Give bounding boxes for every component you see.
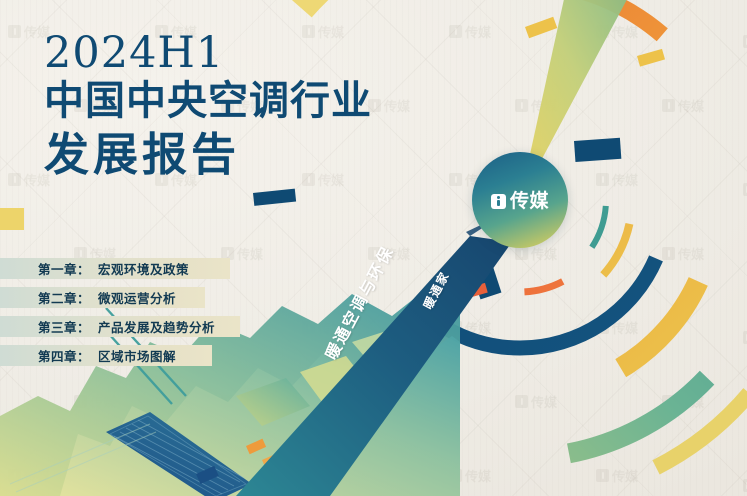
chapter-item-2[interactable]: 第二章：微观运营分析 [0,287,260,308]
chapter-title: 区域市场图解 [98,346,176,365]
chapter-title: 宏观环境及政策 [98,259,189,278]
chapter-title: 产品发展及趋势分析 [98,317,215,336]
brand-logo-badge[interactable]: 传媒 [472,152,568,248]
chapter-item-3[interactable]: 第三章：产品发展及趋势分析 [0,316,260,337]
chapter-item-1[interactable]: 第一章：宏观环境及政策 [0,258,260,279]
chapter-number: 第三章： [38,317,90,336]
info-badge-icon [491,194,506,209]
chapter-title: 微观运营分析 [98,288,176,307]
poster-title-block: 2024H1 中国中央空调行业 发展报告 [44,32,372,181]
title-year: 2024H1 [44,32,372,76]
chapter-item-4[interactable]: 第四章：区域市场图解 [0,345,260,366]
brand-logo-text: 传媒 [510,192,549,211]
poster-canvas: 传媒传媒传媒传媒传媒传媒传媒传媒传媒传媒传媒传媒传媒传媒传媒传媒传媒传媒传媒传媒… [0,0,747,496]
chapter-list: 第一章：宏观环境及政策第二章：微观运营分析第三章：产品发展及趋势分析第四章：区域… [0,258,260,374]
title-line-2: 发展报告 [44,129,372,181]
chapter-number: 第四章： [38,346,90,365]
chapter-number: 第二章： [38,288,90,307]
title-line-1: 中国中央空调行业 [44,78,372,125]
chapter-number: 第一章： [38,259,90,278]
